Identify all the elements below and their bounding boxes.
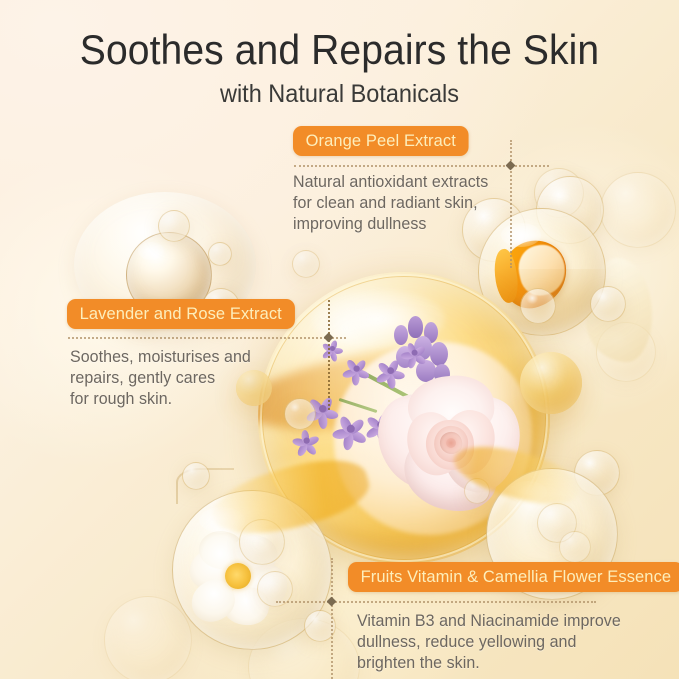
callout-body-line: repairs, gently cares <box>70 368 293 389</box>
callout-body-line: for clean and radiant skin, <box>293 193 516 214</box>
camellia-stamen <box>225 563 251 589</box>
callout-badge-lavender-and-rose-extract[interactable]: Lavender and Rose Extract <box>67 299 294 329</box>
callout-body-lavender-and-rose-extract: Soothes, moisturises and repairs, gently… <box>70 347 293 409</box>
callout-badge-orange-peel-extract[interactable]: Orange Peel Extract <box>293 126 469 156</box>
page-title: Soothes and Repairs the Skin <box>24 26 655 74</box>
lilac-stem-branch <box>339 398 378 413</box>
callout-body-line: Soothes, moisturises and <box>70 347 293 368</box>
connector-line-fruits-vertical <box>331 558 333 679</box>
center-satellite-droplet-right <box>520 352 582 414</box>
top-left-inner-highlight <box>138 242 164 260</box>
callout-body-line: for rough skin. <box>70 389 293 410</box>
connector-node-orange <box>506 161 516 171</box>
callout-body-line: Natural antioxidant extracts <box>293 172 516 193</box>
callout-body-line: brighten the skin. <box>357 653 648 674</box>
rose-center-core <box>446 438 456 448</box>
top-left-bubble-small-top <box>158 210 190 242</box>
callout-body-fruits-vitamin-camellia-flower-essence: Vitamin B3 and Niacinamide improve dulln… <box>357 611 648 673</box>
center-satellite-droplet-top <box>292 250 320 278</box>
product-benefits-poster: Soothes and Repairs the Skin with Natura… <box>0 0 679 679</box>
orange-bubble-satellite <box>590 286 626 322</box>
page-subtitle: with Natural Botanicals <box>20 80 658 109</box>
connector-line-fruits-horizontal <box>276 601 596 603</box>
top-left-bubble-small-right <box>208 242 232 266</box>
callout-body-line: improving dullness <box>293 214 516 235</box>
callout-body-line: Vitamin B3 and Niacinamide improve <box>357 611 648 632</box>
center-satellite-droplet-upper-right <box>520 288 556 324</box>
bottom-right-inner-bubble-2 <box>559 531 591 563</box>
callout-body-orange-peel-extract: Natural antioxidant extracts for clean a… <box>293 172 516 234</box>
callout-body-line: dullness, reduce yellowing and <box>357 632 648 653</box>
connector-line-lavender-horizontal <box>68 337 346 339</box>
camellia-bubble-top-small <box>182 462 210 490</box>
callout-badge-fruits-vitamin-camellia-flower-essence[interactable]: Fruits Vitamin & Camellia Flower Essence <box>348 562 679 592</box>
connector-line-lavender-vertical <box>328 300 330 410</box>
